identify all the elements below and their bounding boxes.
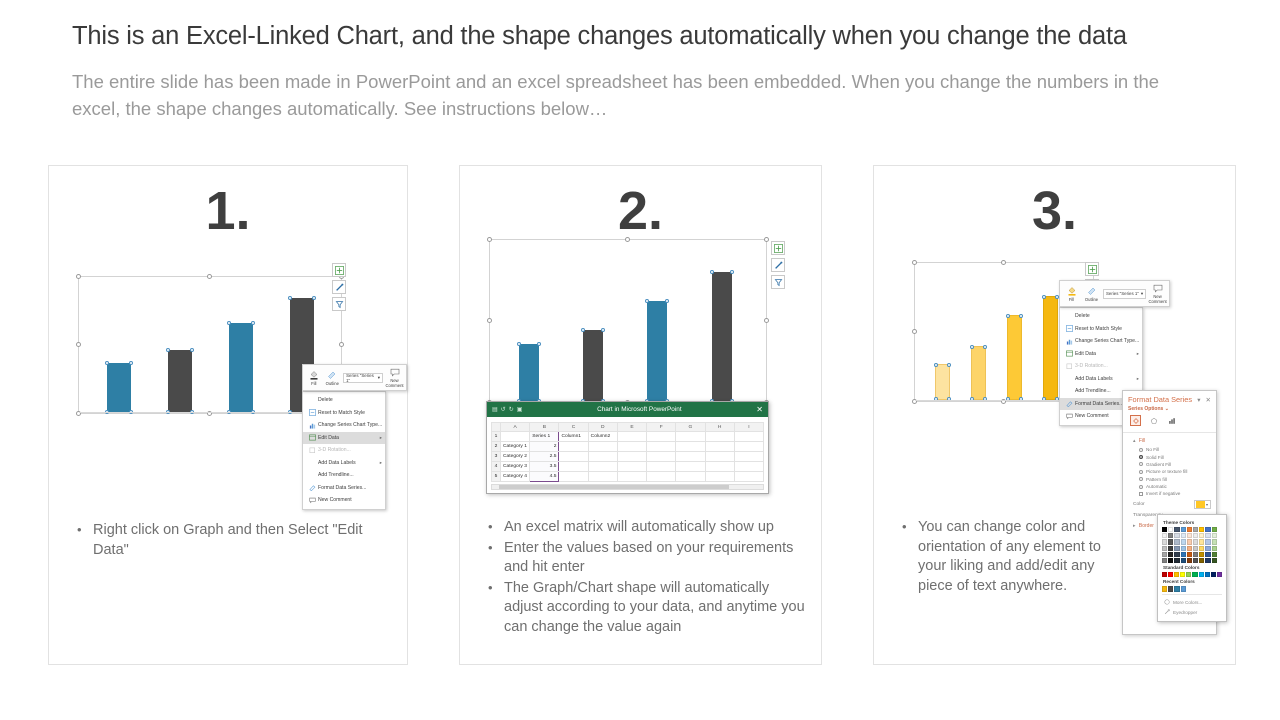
new-comment-tool[interactable]: New Comment: [386, 367, 403, 388]
fill-label: Fill: [311, 381, 316, 386]
column-header-i[interactable]: I: [734, 423, 763, 432]
color-swatch[interactable]: [1217, 572, 1222, 577]
chart-elements-button[interactable]: [1085, 262, 1099, 276]
cell-a2[interactable]: Category 1: [501, 442, 530, 452]
color-picker-flyout[interactable]: Theme Colors: [1157, 514, 1227, 622]
color-swatch[interactable]: [1162, 546, 1167, 551]
series-selector[interactable]: Series "Series 1" ▾: [1103, 289, 1146, 299]
cell-b4[interactable]: 3.5: [530, 462, 559, 472]
radio-icon[interactable]: [1139, 455, 1143, 459]
context-menu-item-format-data-series[interactable]: Format Data Series...: [303, 482, 385, 495]
context-menu-1[interactable]: Delete Reset to Match Style Change Serie…: [302, 391, 386, 510]
current-color-swatch: [1196, 501, 1205, 508]
fill-option-no-fill[interactable]: No Fill: [1123, 446, 1216, 453]
color-swatch[interactable]: [1199, 527, 1204, 532]
color-swatch[interactable]: [1187, 533, 1192, 538]
color-swatch[interactable]: [1168, 539, 1173, 544]
outline-pen-icon: [1087, 286, 1097, 297]
horizontal-scrollbar[interactable]: [491, 484, 764, 490]
fill-tool[interactable]: Fill: [306, 370, 322, 386]
cell-g2[interactable]: [676, 442, 705, 452]
cell-d1[interactable]: Column2: [588, 432, 617, 442]
undo-icon[interactable]: ↺: [501, 406, 506, 413]
color-swatch[interactable]: [1162, 586, 1167, 591]
outline-tool[interactable]: Outline: [325, 370, 341, 386]
color-swatch[interactable]: [1168, 586, 1173, 591]
excel-title-bar[interactable]: ▤ ↺ ↻ ▣ Chart in Microsoft PowerPoint ✕: [487, 402, 768, 417]
bar-handle[interactable]: [1006, 314, 1010, 318]
step-number-3: 3.: [874, 180, 1235, 242]
cell-f2[interactable]: [647, 442, 676, 452]
fill-label: Fill: [1069, 297, 1074, 302]
color-swatch[interactable]: [1199, 539, 1204, 544]
context-menu-item-add-data-labels[interactable]: Add Data Labels ▸: [303, 457, 385, 470]
expander-icon[interactable]: ▸: [1133, 523, 1138, 529]
color-swatch[interactable]: [1162, 572, 1167, 577]
context-menu-item-edit-data[interactable]: Edit Data ▸: [303, 432, 385, 445]
step-1-bullets: Right click on Graph and then Select "Ed…: [63, 521, 395, 561]
color-swatch[interactable]: [1181, 586, 1186, 591]
bar-handle[interactable]: [227, 321, 231, 325]
bar-handle[interactable]: [581, 328, 585, 332]
cell-h3[interactable]: [705, 452, 734, 462]
row-header[interactable]: 3: [492, 452, 501, 462]
bar-handle[interactable]: [730, 270, 734, 274]
series-selector[interactable]: Series "Series 1" ▾: [343, 373, 383, 383]
cell-a3[interactable]: Category 2: [501, 452, 530, 462]
bar-handle[interactable]: [1042, 295, 1046, 299]
reset-icon: [1064, 325, 1075, 332]
comment-icon: [1064, 413, 1075, 420]
color-label: Color: [1133, 502, 1194, 507]
cell-f4[interactable]: [647, 462, 676, 472]
color-swatch[interactable]: [1205, 539, 1210, 544]
plus-icon: [1088, 265, 1097, 274]
color-swatch[interactable]: [1168, 546, 1173, 551]
cell-b1[interactable]: Series 1: [530, 432, 559, 442]
radio-icon[interactable]: [1139, 485, 1143, 489]
color-swatch[interactable]: [1181, 539, 1186, 544]
column-header-a[interactable]: A: [501, 423, 530, 432]
theme-variant-row[interactable]: [1162, 558, 1222, 563]
chart-selection-frame-2[interactable]: [489, 239, 767, 403]
format-pane-header: Format Data Series ▾ ✕: [1123, 391, 1216, 406]
bar-chart-icon: [1168, 417, 1176, 425]
color-swatch[interactable]: [1174, 572, 1179, 577]
color-swatch[interactable]: [1193, 533, 1198, 538]
color-swatch[interactable]: [1174, 586, 1179, 591]
cell-c3[interactable]: [559, 452, 588, 462]
chart-type-icon: [307, 422, 318, 429]
standard-colors-label: Standard Colors: [1163, 565, 1222, 570]
color-swatch[interactable]: [1187, 527, 1192, 532]
theme-colors-base-row[interactable]: [1162, 527, 1222, 532]
excel-row: 4 Category 3 3.5: [492, 462, 764, 472]
fill-line-tab[interactable]: [1130, 415, 1141, 426]
cell-h2[interactable]: [705, 442, 734, 452]
fill-option-invert-if-negative[interactable]: Invert if negative: [1123, 490, 1216, 497]
bar-handle[interactable]: [129, 361, 133, 365]
color-swatch[interactable]: [1162, 533, 1167, 538]
checkbox-icon[interactable]: [1139, 492, 1143, 496]
step-panel-2: 2.: [459, 165, 822, 665]
column-header-g[interactable]: G: [676, 423, 705, 432]
cell-c5[interactable]: [559, 472, 588, 482]
chart-elements-button[interactable]: [332, 263, 346, 277]
bar-handle[interactable]: [947, 363, 951, 367]
plus-icon: [774, 244, 783, 253]
slide: This is an Excel-Linked Chart, and the s…: [0, 0, 1280, 720]
color-swatch[interactable]: [1192, 572, 1197, 577]
cell-i4[interactable]: [734, 462, 763, 472]
filter-icon: [335, 300, 344, 309]
eyedropper-item[interactable]: Eyedropper: [1162, 607, 1222, 617]
color-swatch[interactable]: [1186, 572, 1191, 577]
new-comment-tool[interactable]: New Comment: [1149, 283, 1166, 304]
chart-filters-button[interactable]: [771, 275, 785, 289]
bar-handle[interactable]: [934, 363, 938, 367]
context-menu-item-change-series-chart-type[interactable]: Change Series Chart Type...: [1060, 335, 1142, 348]
color-swatch[interactable]: [1212, 552, 1217, 557]
radio-icon[interactable]: [1139, 462, 1143, 466]
cell-e1[interactable]: [617, 432, 646, 442]
color-swatch[interactable]: [1181, 527, 1186, 532]
chart-elements-button[interactable]: [771, 241, 785, 255]
radio-icon[interactable]: [1139, 477, 1143, 481]
bar-handle[interactable]: [645, 299, 649, 303]
series-selector-value: Series "Series 1": [346, 373, 376, 383]
fill-section-header[interactable]: ▴ Fill: [1123, 435, 1216, 446]
excel-window[interactable]: ▤ ↺ ↻ ▣ Chart in Microsoft PowerPoint ✕ …: [486, 401, 769, 494]
bar-category-3[interactable]: [1007, 315, 1022, 400]
cell-i5[interactable]: [734, 472, 763, 482]
color-swatch[interactable]: [1174, 558, 1179, 563]
step-3-bullets: You can change color and orientation of …: [888, 518, 1113, 597]
cell-e3[interactable]: [617, 452, 646, 462]
bar-handle[interactable]: [166, 348, 170, 352]
color-swatch[interactable]: [1199, 546, 1204, 551]
mini-toolbar-1[interactable]: Fill Outline Series "Series 1" ▾: [302, 364, 407, 391]
excel-row: 5 Category 4 4.5: [492, 472, 764, 482]
row-header[interactable]: 4: [492, 462, 501, 472]
bar-category-1[interactable]: [935, 364, 950, 400]
color-swatch[interactable]: [1199, 533, 1204, 538]
chart-styles-button[interactable]: [771, 258, 785, 272]
color-swatch[interactable]: [1205, 552, 1210, 557]
fill-bucket-icon: [309, 370, 319, 381]
color-swatch[interactable]: [1187, 558, 1192, 563]
color-swatch[interactable]: [1187, 546, 1192, 551]
color-swatch[interactable]: [1174, 533, 1179, 538]
series-selector-value: Series "Series 1": [1106, 291, 1139, 296]
close-icon[interactable]: ✕: [756, 406, 763, 414]
cell-c4[interactable]: [559, 462, 588, 472]
save-icon[interactable]: ▤: [492, 406, 498, 413]
cell-g5[interactable]: [676, 472, 705, 482]
color-swatch[interactable]: [1193, 558, 1198, 563]
cell-f3[interactable]: [647, 452, 676, 462]
divider: [1123, 432, 1216, 433]
column-header-f[interactable]: F: [647, 423, 676, 432]
context-menu-item-add-data-labels[interactable]: Add Data Labels ▸: [1060, 373, 1142, 386]
cell-h5[interactable]: [705, 472, 734, 482]
color-swatch-button[interactable]: ▾: [1194, 500, 1211, 509]
bar-handle[interactable]: [970, 345, 974, 349]
color-swatch[interactable]: [1174, 527, 1179, 532]
cell-b2[interactable]: 2: [530, 442, 559, 452]
mini-toolbar-3[interactable]: Fill Outline Series "Series 1" ▾: [1059, 280, 1170, 307]
color-swatch[interactable]: [1168, 533, 1173, 538]
context-menu-item-add-trendline[interactable]: Add Trendline...: [303, 469, 385, 482]
chart-type-icon: [1064, 338, 1075, 345]
theme-colors-variants: [1162, 533, 1222, 563]
color-swatch[interactable]: [1168, 527, 1173, 532]
color-swatch[interactable]: [1187, 552, 1192, 557]
cell-a4[interactable]: Category 3: [501, 462, 530, 472]
bar-handle[interactable]: [190, 348, 194, 352]
cell-g3[interactable]: [676, 452, 705, 462]
cell-b3[interactable]: 2.5: [530, 452, 559, 462]
color-swatch[interactable]: [1205, 527, 1210, 532]
color-swatch[interactable]: [1181, 533, 1186, 538]
context-menu-item-delete[interactable]: Delete: [1060, 310, 1142, 323]
outline-tool[interactable]: Outline: [1083, 286, 1100, 302]
theme-variant-row[interactable]: [1162, 552, 1222, 557]
bar-handle[interactable]: [537, 342, 541, 346]
bar-handle[interactable]: [710, 270, 714, 274]
color-swatch[interactable]: [1180, 572, 1185, 577]
bar-category-3[interactable]: [647, 301, 667, 401]
quick-access-toolbar[interactable]: ▤ ↺ ↻ ▣: [492, 406, 522, 413]
color-swatch[interactable]: [1205, 558, 1210, 563]
redo-icon[interactable]: ↻: [509, 406, 514, 413]
eyedropper-icon: [1164, 609, 1170, 616]
bar-handle[interactable]: [251, 321, 255, 325]
filter-icon: [774, 278, 783, 287]
step-2-bullets: An excel matrix will automatically show …: [474, 518, 809, 638]
bar-handle[interactable]: [601, 328, 605, 332]
excel-row: 3 Category 2 2.5: [492, 452, 764, 462]
scrollbar-thumb[interactable]: [499, 485, 729, 489]
fill-option-solid-fill[interactable]: Solid Fill: [1123, 453, 1216, 460]
color-row[interactable]: Color ▾: [1123, 498, 1216, 511]
comment-bubble-icon: [1153, 283, 1163, 294]
color-swatch[interactable]: [1212, 558, 1217, 563]
color-swatch[interactable]: [1181, 546, 1186, 551]
radio-icon[interactable]: [1139, 448, 1143, 452]
recent-colors-label: Recent Colors: [1163, 579, 1222, 584]
bar-handle[interactable]: [312, 296, 316, 300]
color-swatch[interactable]: [1174, 552, 1179, 557]
color-swatch[interactable]: [1181, 552, 1186, 557]
context-menu-item-delete[interactable]: Delete: [303, 394, 385, 407]
submenu-arrow-icon: ▸: [1134, 351, 1139, 357]
brush-icon: [335, 283, 344, 292]
cell-g4[interactable]: [676, 462, 705, 472]
color-swatch[interactable]: [1174, 546, 1179, 551]
cell-e5[interactable]: [617, 472, 646, 482]
chart-filters-button[interactable]: [332, 297, 346, 311]
color-swatch[interactable]: [1212, 527, 1217, 532]
cell-d3[interactable]: [588, 452, 617, 462]
bullet-item: You can change color and orientation of …: [888, 518, 1113, 596]
column-header-d[interactable]: D: [588, 423, 617, 432]
edit-data-icon: [1064, 350, 1075, 357]
fill-tool[interactable]: Fill: [1063, 286, 1080, 302]
cell-c1[interactable]: Column1: [559, 432, 588, 442]
column-header-e[interactable]: E: [617, 423, 646, 432]
bar-handle[interactable]: [288, 296, 292, 300]
comment-icon: [307, 497, 318, 504]
context-menu-item-3d-rotation: 3-D Rotation...: [303, 444, 385, 457]
chevron-down-icon: ▾: [1206, 502, 1208, 507]
step-number-2: 2.: [460, 180, 821, 242]
color-swatch[interactable]: [1212, 533, 1217, 538]
cell-d5[interactable]: [588, 472, 617, 482]
close-icon[interactable]: ✕: [1201, 396, 1211, 404]
row-header[interactable]: 5: [492, 472, 501, 482]
brush-icon: [774, 261, 783, 270]
bar-category-2[interactable]: [971, 346, 986, 400]
step-number-1: 1.: [49, 180, 407, 242]
cell-g1[interactable]: [676, 432, 705, 442]
rotation-icon: [1064, 363, 1075, 370]
bullet-item: Enter the values based on your requireme…: [474, 539, 809, 578]
standard-colors-row[interactable]: [1162, 572, 1222, 577]
expander-icon[interactable]: ▴: [1133, 438, 1138, 444]
row-header[interactable]: 1: [492, 432, 501, 442]
page-title: This is an Excel-Linked Chart, and the s…: [72, 22, 1217, 51]
color-swatch[interactable]: [1193, 546, 1198, 551]
chart-styles-button[interactable]: [332, 280, 346, 294]
more-colors-item[interactable]: More Colors...: [1162, 597, 1222, 607]
pentagon-effects-icon: [1150, 417, 1158, 425]
color-swatch[interactable]: [1199, 552, 1204, 557]
comment-bubble-icon: [390, 367, 400, 378]
pane-options-icon[interactable]: ▾: [1192, 396, 1200, 404]
cell-h1[interactable]: [705, 432, 734, 442]
context-menu-item-3d-rotation: 3-D Rotation...: [1060, 360, 1142, 373]
color-swatch[interactable]: [1174, 539, 1179, 544]
cell-a5[interactable]: Category 4: [501, 472, 530, 482]
new-comment-label: New Comment: [1149, 294, 1167, 304]
color-swatch[interactable]: [1168, 572, 1173, 577]
color-swatch[interactable]: [1199, 572, 1204, 577]
context-menu-item-reset-to-match-style[interactable]: Reset to Match Style: [303, 407, 385, 420]
excel-row: 1 Series 1 Column1 Column2: [492, 432, 764, 442]
color-swatch[interactable]: [1168, 552, 1173, 557]
color-swatch[interactable]: [1193, 527, 1198, 532]
rotation-icon: [307, 447, 318, 454]
cell-h4[interactable]: [705, 462, 734, 472]
color-swatch[interactable]: [1205, 533, 1210, 538]
fill-option-pattern-fill[interactable]: Pattern fill: [1123, 476, 1216, 483]
column-header-b[interactable]: B: [530, 423, 559, 432]
color-swatch[interactable]: [1199, 558, 1204, 563]
cell-b5[interactable]: 4.5: [530, 472, 559, 482]
excel-grid[interactable]: A B C D E F G H I 1 Series 1 Colu: [491, 422, 764, 482]
bar-category-1[interactable]: [519, 344, 539, 401]
color-swatch[interactable]: [1193, 552, 1198, 557]
bar-handle[interactable]: [665, 299, 669, 303]
fill-option-gradient-fill[interactable]: Gradient Fill: [1123, 461, 1216, 468]
radio-icon[interactable]: [1139, 470, 1143, 474]
color-swatch[interactable]: [1162, 539, 1167, 544]
bar-handle[interactable]: [517, 342, 521, 346]
column-header-h[interactable]: H: [705, 423, 734, 432]
excel-app-icon: ▣: [517, 406, 523, 413]
column-header-c[interactable]: C: [559, 423, 588, 432]
color-swatch[interactable]: [1211, 572, 1216, 577]
cell-i3[interactable]: [734, 452, 763, 462]
cell-a1[interactable]: [501, 432, 530, 442]
bar-handle[interactable]: [1019, 314, 1023, 318]
color-swatch[interactable]: [1193, 539, 1198, 544]
bar-handle[interactable]: [105, 361, 109, 365]
chevron-down-icon: ▾: [378, 375, 380, 381]
bar-category-4[interactable]: [712, 272, 732, 401]
select-all-corner[interactable]: [492, 423, 501, 432]
step-panel-1: 1.: [48, 165, 408, 665]
edit-data-icon: [307, 434, 318, 441]
bar-category-3[interactable]: [229, 323, 253, 412]
bar-category-2[interactable]: [168, 350, 192, 412]
context-menu-item-reset-to-match-style[interactable]: Reset to Match Style: [1060, 323, 1142, 336]
bar-chart-2: [490, 240, 766, 401]
submenu-arrow-icon: ▸: [377, 435, 382, 441]
bar-category-1[interactable]: [107, 363, 131, 412]
cell-c2[interactable]: [559, 442, 588, 452]
cell-d4[interactable]: [588, 462, 617, 472]
color-swatch[interactable]: [1162, 527, 1167, 532]
bar-category-4[interactable]: [1043, 296, 1058, 400]
cell-e2[interactable]: [617, 442, 646, 452]
cell-e4[interactable]: [617, 462, 646, 472]
fill-option-automatic[interactable]: Automatic: [1123, 483, 1216, 490]
recent-colors-row[interactable]: [1162, 586, 1222, 591]
color-swatch[interactable]: [1205, 572, 1210, 577]
color-swatch[interactable]: [1168, 558, 1173, 563]
color-swatch[interactable]: [1205, 546, 1210, 551]
row-header[interactable]: 2: [492, 442, 501, 452]
new-comment-label: New Comment: [385, 378, 403, 388]
cell-i2[interactable]: [734, 442, 763, 452]
format-icon: [1064, 400, 1075, 407]
cell-i1[interactable]: [734, 432, 763, 442]
color-swatch[interactable]: [1212, 546, 1217, 551]
color-swatch[interactable]: [1181, 558, 1186, 563]
color-swatch[interactable]: [1162, 558, 1167, 563]
context-menu-item-new-comment[interactable]: New Comment: [303, 494, 385, 507]
context-menu-item-edit-data[interactable]: Edit Data ▸: [1060, 348, 1142, 361]
series-options-tab[interactable]: [1166, 415, 1177, 426]
series-options-label[interactable]: Series Options ⌄: [1123, 406, 1216, 415]
effects-tab[interactable]: [1148, 415, 1159, 426]
cell-f5[interactable]: [647, 472, 676, 482]
cell-f1[interactable]: [647, 432, 676, 442]
color-swatch[interactable]: [1187, 539, 1192, 544]
color-swatch[interactable]: [1212, 539, 1217, 544]
theme-variant-row[interactable]: [1162, 539, 1222, 544]
theme-variant-row[interactable]: [1162, 533, 1222, 538]
theme-variant-row[interactable]: [1162, 546, 1222, 551]
bar-category-2[interactable]: [583, 330, 603, 401]
bar-handle[interactable]: [983, 345, 987, 349]
fill-option-picture-or-texture-fill[interactable]: Picture or texture fill: [1123, 468, 1216, 475]
context-menu-item-change-series-chart-type[interactable]: Change Series Chart Type...: [303, 419, 385, 432]
color-swatch[interactable]: [1162, 552, 1167, 557]
cell-d2[interactable]: [588, 442, 617, 452]
